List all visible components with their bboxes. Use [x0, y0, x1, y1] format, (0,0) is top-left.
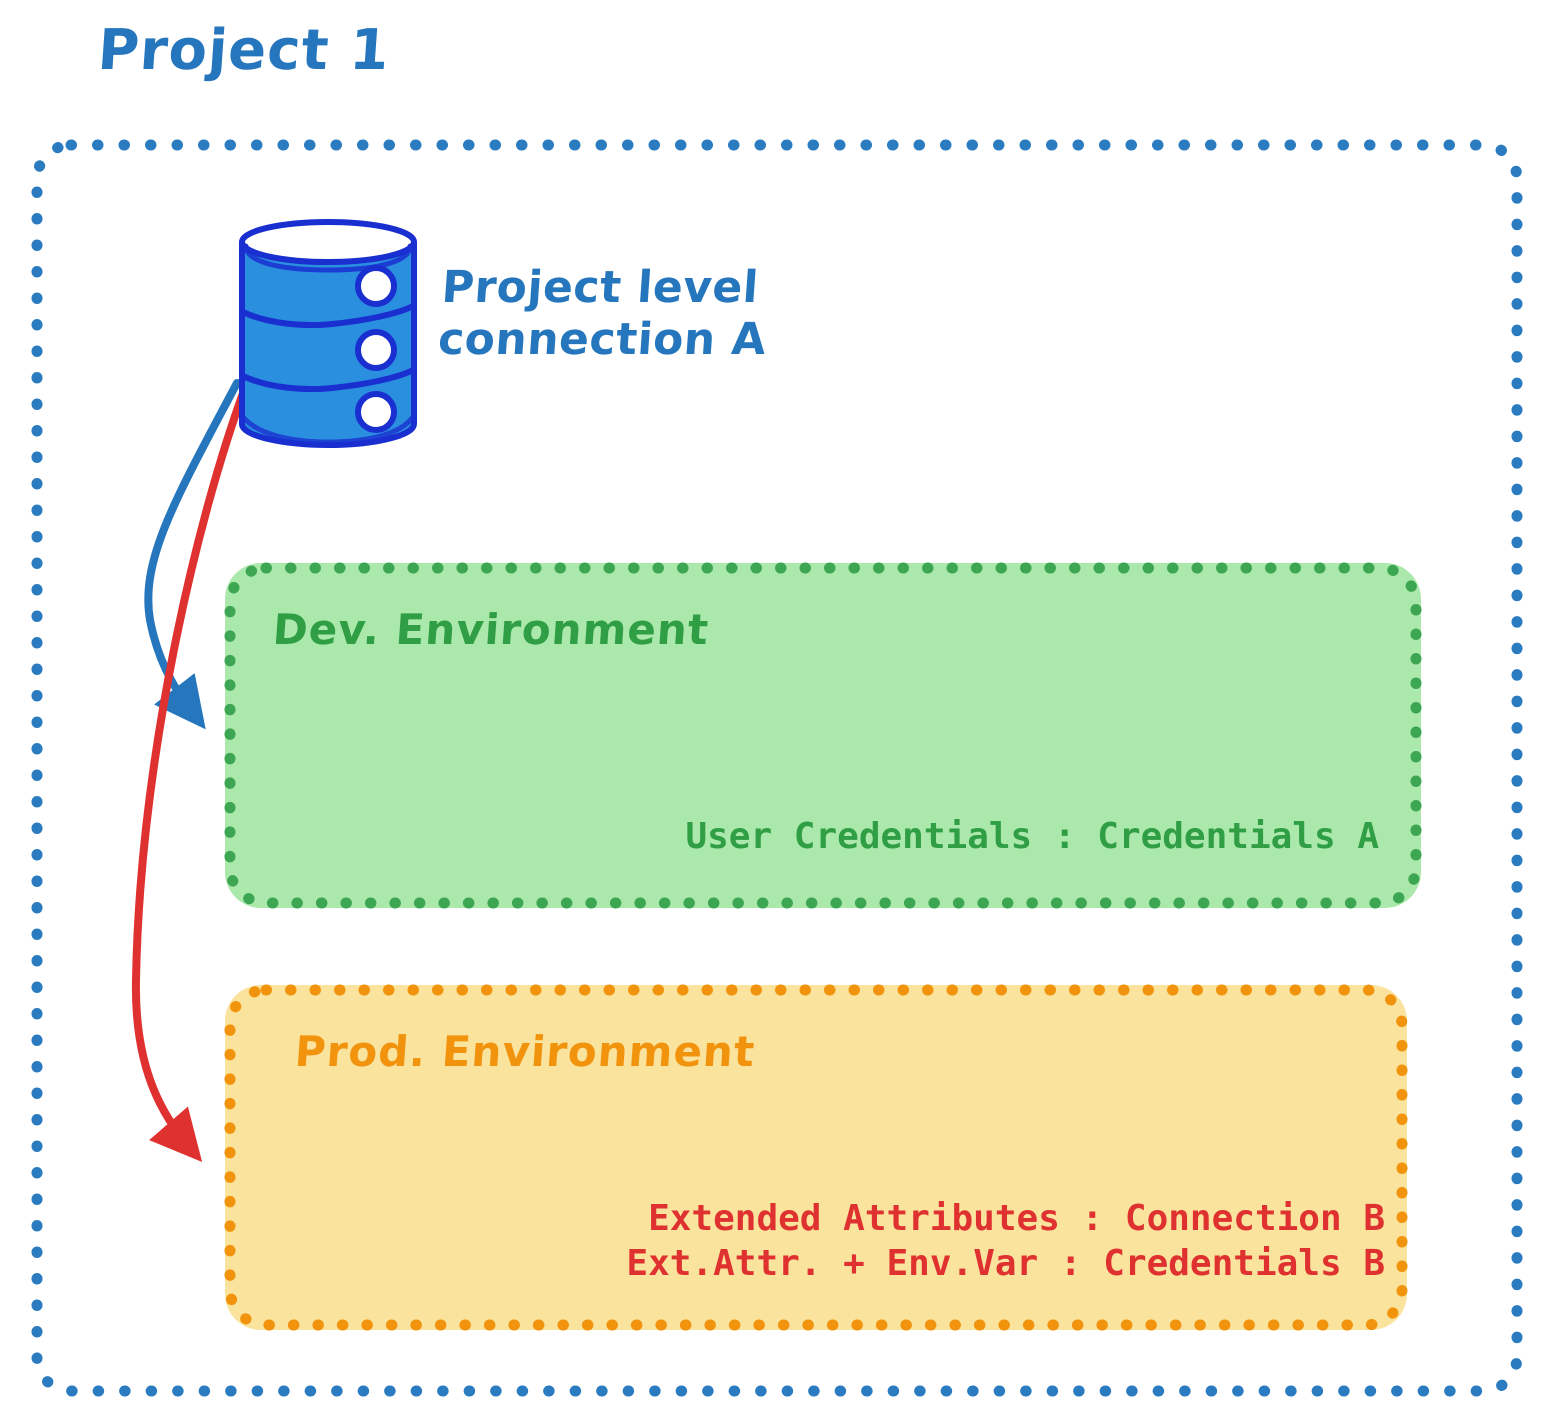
database-led-icon — [358, 332, 394, 368]
prod-extended-attributes-text: Extended Attributes : Connection B — [648, 1198, 1385, 1239]
prod-environment-box[interactable]: Prod. Environment Extended Attributes : … — [225, 985, 1407, 1330]
page-title: Project 1 — [96, 18, 392, 83]
dev-environment-title: Dev. Environment — [271, 605, 710, 654]
prod-environment-title: Prod. Environment — [293, 1027, 756, 1076]
connection-label-line-1: Project level — [440, 262, 772, 314]
database-led-icon — [358, 394, 394, 430]
dev-user-credentials-text: User Credentials : Credentials A — [685, 816, 1379, 857]
prod-env-var-credentials-text: Ext.Attr. + Env.Var : Credentials B — [626, 1243, 1385, 1284]
dev-environment-box[interactable]: Dev. Environment User Credentials : Cred… — [225, 563, 1421, 908]
database-cylinder-icon[interactable] — [228, 214, 428, 454]
database-led-icon — [358, 268, 394, 304]
connection-label-line-2: connection A — [436, 314, 768, 366]
project-level-connection-label: Project level connection A — [436, 262, 771, 366]
